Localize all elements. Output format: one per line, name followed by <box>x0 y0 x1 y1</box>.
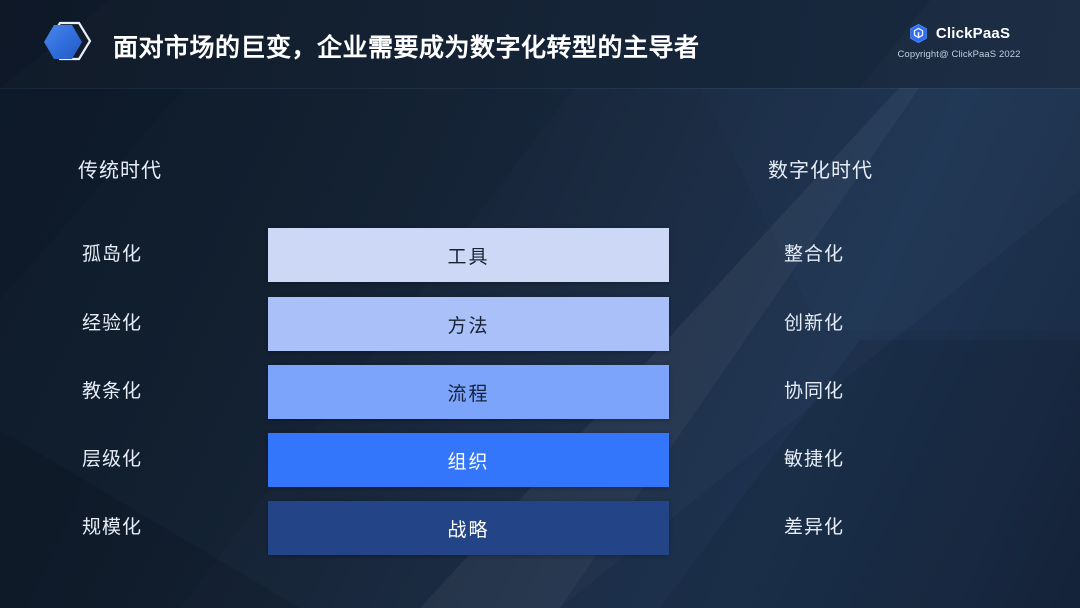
center-bar-process[interactable]: 流程 <box>268 365 669 419</box>
brand-block: ClickPaaS Copyright@ ClickPaaS 2022 <box>874 22 1044 61</box>
row-right-label: 差异化 <box>784 501 844 555</box>
column-header-traditional: 传统时代 <box>78 154 162 183</box>
brand-row: ClickPaaS <box>874 22 1044 44</box>
hexagon-logo-icon <box>40 19 96 71</box>
copyright-text: Copyright@ ClickPaaS 2022 <box>874 48 1044 61</box>
table-row: 经验化 方法 创新化 <box>0 297 1080 351</box>
row-right-label: 协同化 <box>784 365 844 419</box>
column-header-digital: 数字化时代 <box>768 154 873 183</box>
brand-name: ClickPaaS <box>936 23 1010 44</box>
row-right-label: 创新化 <box>784 297 844 351</box>
clickpaas-hexagon-icon <box>908 23 929 44</box>
row-left-label: 层级化 <box>82 433 142 487</box>
row-left-label: 经验化 <box>82 297 142 351</box>
center-bar-strategy[interactable]: 战略 <box>268 501 669 555</box>
row-left-label: 教条化 <box>82 365 142 419</box>
content-area: 传统时代 数字化时代 孤岛化 工具 整合化 经验化 方法 创新化 教条化 流程 … <box>0 88 1080 608</box>
row-right-label: 整合化 <box>784 228 844 282</box>
center-bar-tool[interactable]: 工具 <box>268 228 669 282</box>
center-bar-organization[interactable]: 组织 <box>268 433 669 487</box>
table-row: 教条化 流程 协同化 <box>0 365 1080 419</box>
table-row: 规模化 战略 差异化 <box>0 501 1080 555</box>
table-row: 层级化 组织 敏捷化 <box>0 433 1080 487</box>
row-left-label: 规模化 <box>82 501 142 555</box>
page-title: 面对市场的巨变，企业需要成为数字化转型的主导者 <box>113 28 813 68</box>
table-row: 孤岛化 工具 整合化 <box>0 228 1080 282</box>
center-bar-method[interactable]: 方法 <box>268 297 669 351</box>
slide-canvas: 面对市场的巨变，企业需要成为数字化转型的主导者 ClickPaaS Copyri… <box>0 0 1080 608</box>
row-right-label: 敏捷化 <box>784 433 844 487</box>
row-left-label: 孤岛化 <box>82 228 142 282</box>
